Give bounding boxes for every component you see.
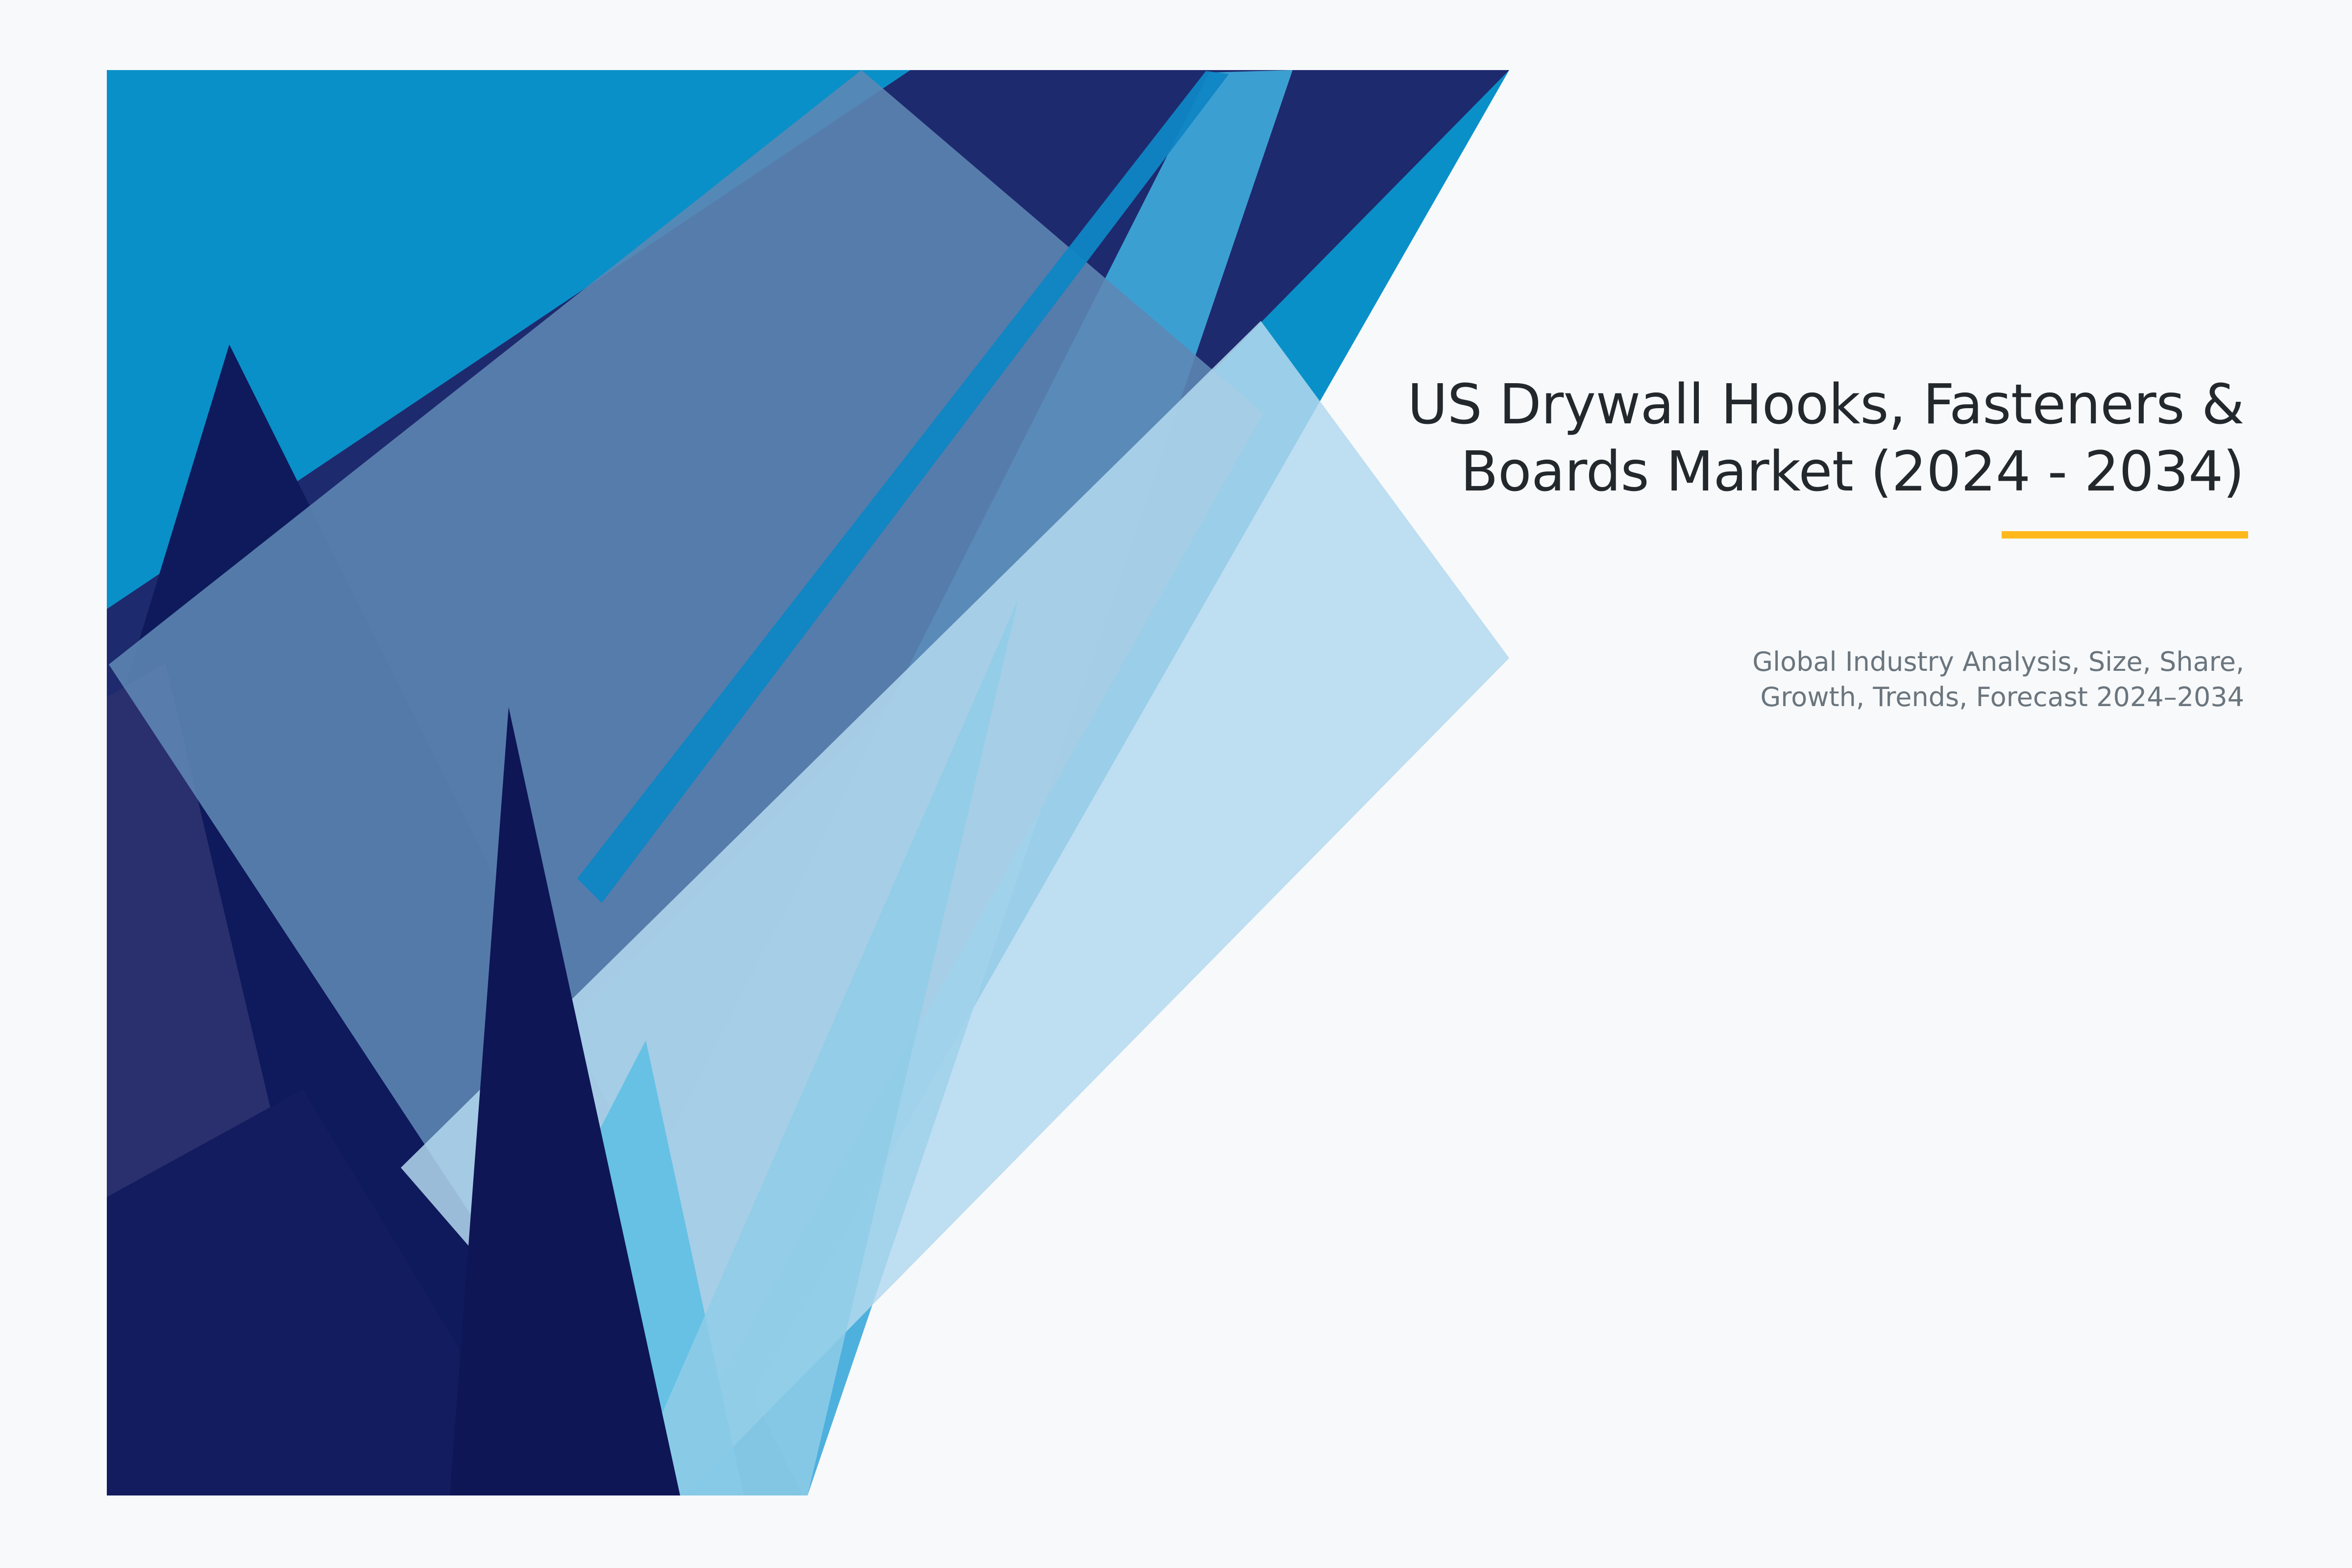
page-subtitle: Global Industry Analysis, Size, Share, G… [1068,644,2244,715]
page-title: US Drywall Hooks, Fasteners & Boards Mar… [1068,371,2244,505]
artwork-svg [107,70,1509,1495]
abstract-geometric-artwork [107,70,1509,1495]
report-cover-page: US Drywall Hooks, Fasteners & Boards Mar… [0,0,2352,1568]
title-accent-underline [2002,531,2248,539]
